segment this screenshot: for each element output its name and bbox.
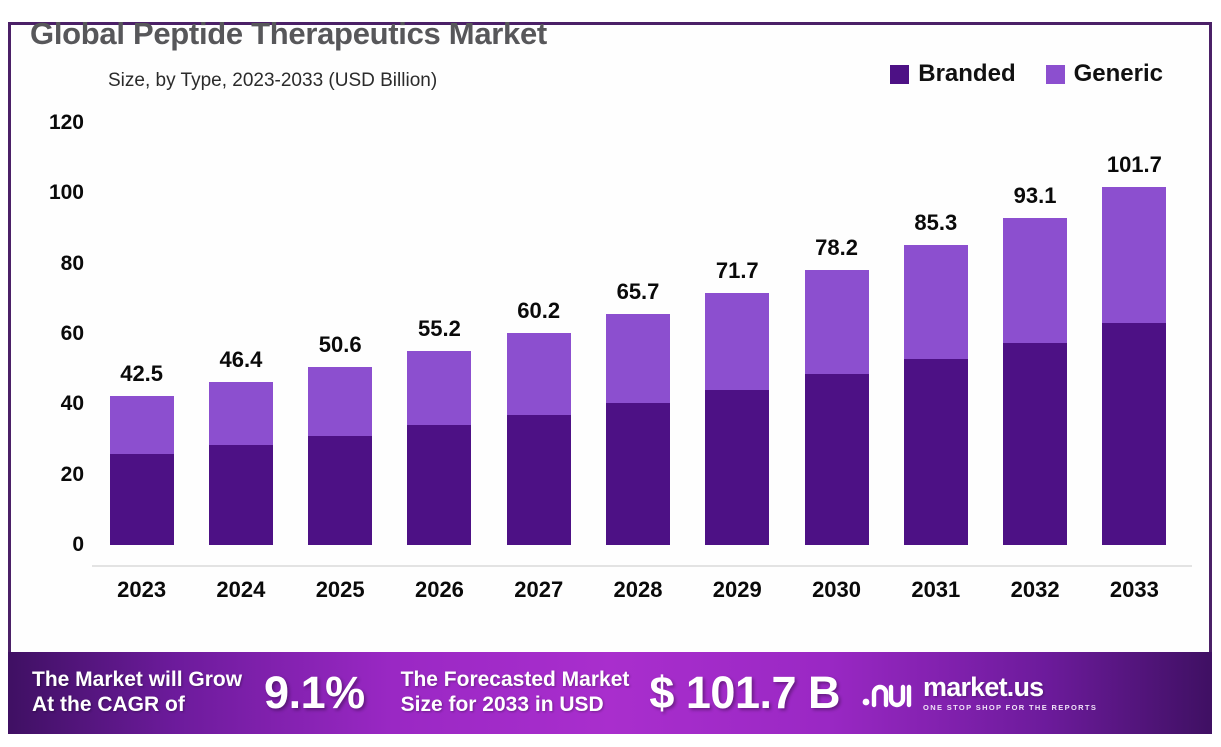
bar-group[interactable]: 65.7 xyxy=(606,314,670,545)
bar-segment-branded[interactable] xyxy=(308,436,372,545)
square-swatch-icon xyxy=(1046,65,1065,84)
bar-segment-branded[interactable] xyxy=(1003,343,1067,545)
bar-segment-generic[interactable] xyxy=(705,293,769,390)
bar-group[interactable]: 101.7 xyxy=(1102,187,1166,545)
brand-name: market.us xyxy=(923,674,1097,701)
legend-label: Generic xyxy=(1074,60,1163,88)
x-axis-tick: 2032 xyxy=(985,577,1084,603)
bar-total-label: 101.7 xyxy=(1107,152,1162,178)
bar-group[interactable]: 50.6 xyxy=(308,367,372,545)
bar-total-label: 85.3 xyxy=(914,210,957,236)
bar-group[interactable]: 78.2 xyxy=(805,270,869,545)
bar-total-label: 71.7 xyxy=(716,258,759,284)
legend-item-generic[interactable]: Generic xyxy=(1046,60,1163,88)
bar-segment-branded[interactable] xyxy=(507,415,571,545)
y-axis-tick: 60 xyxy=(10,322,84,346)
bar-segment-branded[interactable] xyxy=(407,425,471,545)
brand-tagline: ONE STOP SHOP FOR THE REPORTS xyxy=(923,704,1097,712)
cagr-caption-line2: At the CAGR of xyxy=(32,693,242,718)
y-axis-tick: 80 xyxy=(10,252,84,276)
y-axis-tick: 0 xyxy=(10,533,84,557)
bar-segment-branded[interactable] xyxy=(209,445,273,545)
page-title: Global Peptide Therapeutics Market xyxy=(30,16,547,52)
x-axis-tick: 2029 xyxy=(688,577,787,603)
y-axis-tick: 100 xyxy=(10,181,84,205)
cagr-value: 9.1% xyxy=(264,667,365,719)
bar-segment-generic[interactable] xyxy=(209,382,273,445)
bar-total-label: 78.2 xyxy=(815,235,858,261)
bar-group[interactable]: 55.2 xyxy=(407,351,471,545)
bar-total-label: 55.2 xyxy=(418,316,461,342)
bar-segment-generic[interactable] xyxy=(1102,187,1166,323)
chart-legend: BrandedGeneric xyxy=(890,60,1163,88)
bar-segment-branded[interactable] xyxy=(1102,323,1166,545)
y-axis: 020406080100120 xyxy=(0,123,84,545)
bar-group[interactable]: 42.5 xyxy=(110,396,174,545)
legend-item-branded[interactable]: Branded xyxy=(890,60,1015,88)
cagr-block: The Market will Grow At the CAGR of 9.1% xyxy=(32,667,365,719)
bar-group[interactable]: 60.2 xyxy=(507,333,571,545)
cagr-caption: The Market will Grow At the CAGR of xyxy=(32,668,242,718)
bar-segment-generic[interactable] xyxy=(904,245,968,359)
brand-logo[interactable]: market.us ONE STOP SHOP FOR THE REPORTS xyxy=(862,674,1097,712)
plot-area: 42.546.450.655.260.265.771.778.285.393.1… xyxy=(92,123,1184,545)
forecast-caption-line1: The Forecasted Market xyxy=(401,668,630,693)
x-axis-tick: 2025 xyxy=(291,577,390,603)
x-axis-tick: 2026 xyxy=(390,577,489,603)
x-axis-tick: 2028 xyxy=(588,577,687,603)
bar-total-label: 65.7 xyxy=(617,279,660,305)
bar-total-label: 46.4 xyxy=(219,347,262,373)
bar-segment-branded[interactable] xyxy=(805,374,869,545)
bar-segment-branded[interactable] xyxy=(705,390,769,545)
bar-segment-generic[interactable] xyxy=(606,314,670,403)
x-axis-tick: 2023 xyxy=(92,577,191,603)
bar-segment-branded[interactable] xyxy=(110,454,174,545)
bar-total-label: 42.5 xyxy=(120,361,163,387)
bar-group[interactable]: 46.4 xyxy=(209,382,273,545)
legend-label: Branded xyxy=(918,60,1015,88)
bar-total-label: 93.1 xyxy=(1014,183,1057,209)
summary-banner: The Market will Grow At the CAGR of 9.1%… xyxy=(8,652,1212,734)
bar-segment-generic[interactable] xyxy=(110,396,174,454)
bar-segment-branded[interactable] xyxy=(606,403,670,545)
bar-total-label: 50.6 xyxy=(319,332,362,358)
forecast-value: $ 101.7 B xyxy=(649,667,840,719)
forecast-caption-line2: Size for 2033 in USD xyxy=(401,693,630,718)
y-axis-tick: 40 xyxy=(10,392,84,416)
bar-segment-generic[interactable] xyxy=(805,270,869,374)
brand-logo-text: market.us ONE STOP SHOP FOR THE REPORTS xyxy=(923,674,1097,712)
page-subtitle: Size, by Type, 2023-2033 (USD Billion) xyxy=(108,70,437,92)
market-us-logo-icon xyxy=(862,676,914,710)
bar-segment-generic[interactable] xyxy=(1003,218,1067,343)
bar-segment-generic[interactable] xyxy=(507,333,571,415)
chart-infographic: Global Peptide Therapeutics Market Size,… xyxy=(0,0,1221,747)
bar-segment-generic[interactable] xyxy=(308,367,372,436)
x-axis-tick: 2031 xyxy=(886,577,985,603)
x-axis-tick: 2027 xyxy=(489,577,588,603)
bar-group[interactable]: 85.3 xyxy=(904,245,968,545)
x-axis-tick: 2033 xyxy=(1085,577,1184,603)
bar-segment-generic[interactable] xyxy=(407,351,471,426)
square-swatch-icon xyxy=(890,65,909,84)
bar-segment-branded[interactable] xyxy=(904,359,968,545)
y-axis-tick: 120 xyxy=(10,111,84,135)
y-axis-tick: 20 xyxy=(10,463,84,487)
forecast-block: The Forecasted Market Size for 2033 in U… xyxy=(401,667,840,719)
x-axis-tick: 2030 xyxy=(787,577,886,603)
x-axis-baseline xyxy=(92,565,1192,567)
cagr-caption-line1: The Market will Grow xyxy=(32,668,242,693)
forecast-caption: The Forecasted Market Size for 2033 in U… xyxy=(401,668,630,718)
bar-group[interactable]: 71.7 xyxy=(705,293,769,545)
bar-total-label: 60.2 xyxy=(517,298,560,324)
bar-group[interactable]: 93.1 xyxy=(1003,218,1067,545)
x-axis-tick: 2024 xyxy=(191,577,290,603)
